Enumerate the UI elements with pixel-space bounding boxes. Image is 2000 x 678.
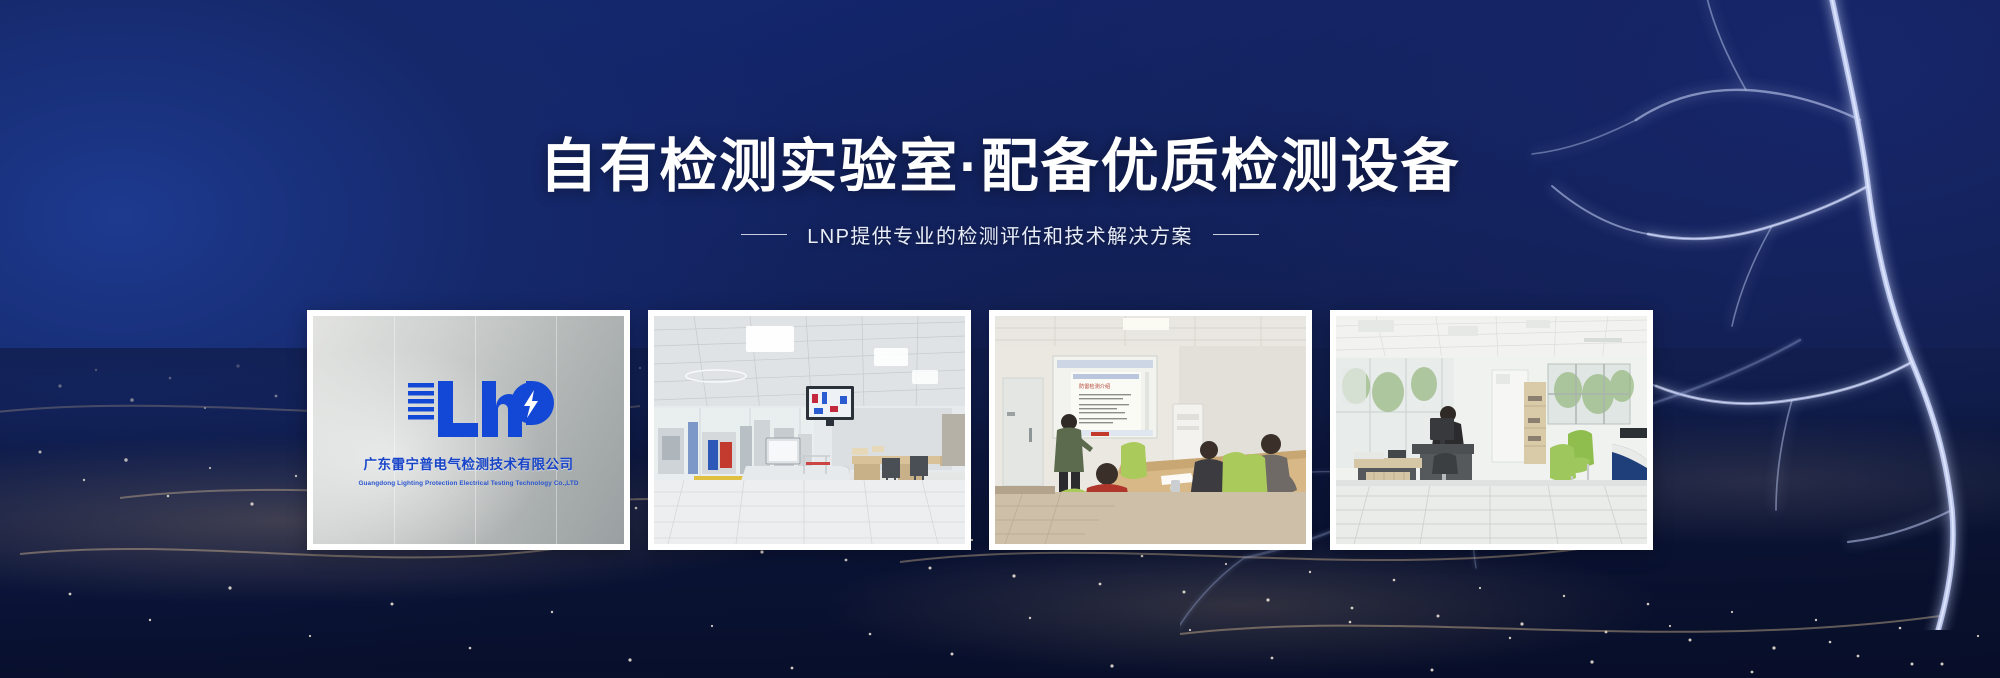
wall-seam: [394, 316, 395, 544]
sign-company-name-en: Guangdong Lighting Protection Electrical…: [358, 480, 578, 487]
photo-lnp-sign: 广东雷宁普电气检测技术有限公司 Guangdong Lighting Prote…: [313, 316, 624, 544]
gallery-card-office[interactable]: [1330, 310, 1653, 550]
meeting-room-illustration-icon: 防雷检测介绍: [995, 316, 1306, 544]
svg-text:防雷检测介绍: 防雷检测介绍: [1079, 382, 1110, 390]
lnp-logo-icon: [406, 375, 556, 441]
subtitle-rule-right: [1213, 234, 1259, 235]
photo-office: [1336, 316, 1647, 544]
subtitle-container: LNP提供专业的检测评估和技术解决方案: [0, 220, 2000, 249]
photo-gallery: 广东雷宁普电气检测技术有限公司 Guangdong Lighting Prote…: [307, 310, 1653, 550]
hero-banner: 自有检测实验室·配备优质检测设备 LNP提供专业的检测评估和技术解决方案: [0, 0, 2000, 678]
gallery-card-meeting-room[interactable]: 防雷检测介绍: [989, 310, 1312, 550]
photo-meeting-room: 防雷检测介绍: [995, 316, 1306, 544]
gallery-card-lnp-sign[interactable]: 广东雷宁普电气检测技术有限公司 Guangdong Lighting Prote…: [307, 310, 630, 550]
page-title: 自有检测实验室·配备优质检测设备: [539, 135, 1460, 200]
gallery-card-laboratory[interactable]: [648, 310, 971, 550]
photo-laboratory: [654, 316, 965, 544]
subtitle-text: LNP提供专业的检测评估和技术解决方案: [807, 220, 1193, 249]
laboratory-illustration-icon: [654, 316, 965, 544]
sign-company-name-cn: 广东雷宁普电气检测技术有限公司: [364, 453, 574, 473]
headline-container: 自有检测实验室·配备优质检测设备: [0, 96, 2000, 239]
office-illustration-icon: [1336, 316, 1647, 544]
subtitle-rule-left: [741, 234, 787, 235]
